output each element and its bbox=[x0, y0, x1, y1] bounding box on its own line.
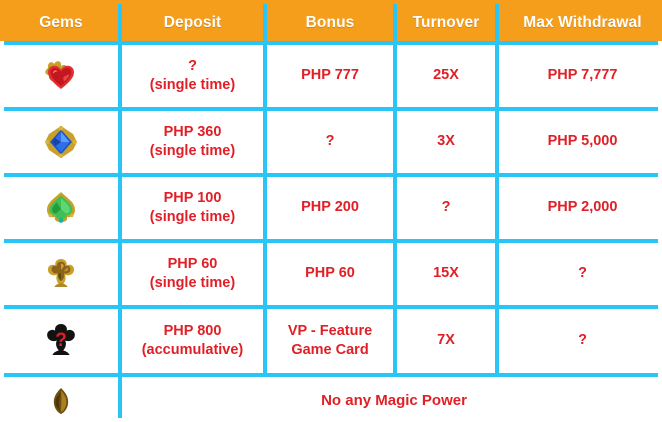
column-header-bonus: Bonus bbox=[267, 4, 393, 41]
gem-rewards-table-image: Gems Deposit Bonus Turnover Max Withdraw… bbox=[0, 0, 662, 422]
green-spade-gem-icon bbox=[41, 188, 81, 228]
max-withdrawal-cell: ? bbox=[499, 243, 662, 305]
gem-cell bbox=[4, 45, 118, 107]
max-withdrawal-cell: ? bbox=[499, 309, 662, 373]
table-header: Gems Deposit Bonus Turnover Max Withdraw… bbox=[4, 4, 662, 41]
bonus-value-2: Game Card bbox=[267, 341, 393, 360]
max-withdrawal-cell: PHP 7,777 bbox=[499, 45, 662, 107]
gold-club-gem-icon bbox=[41, 254, 81, 294]
gem-cell bbox=[4, 243, 118, 305]
deposit-value: PHP 800 bbox=[122, 322, 263, 341]
deposit-note: (single time) bbox=[122, 142, 263, 161]
bonus-cell: PHP 777 bbox=[267, 45, 393, 107]
table-row: ? PHP 800 (accumulative) VP - Feature Ga… bbox=[4, 309, 662, 373]
turnover-cell: 7X bbox=[397, 309, 495, 373]
gem-cell bbox=[4, 111, 118, 173]
max-withdrawal-cell: PHP 2,000 bbox=[499, 177, 662, 239]
mystery-question-mark: ? bbox=[55, 330, 67, 351]
blue-diamond-gem-icon bbox=[41, 122, 81, 162]
column-header-turnover: Turnover bbox=[397, 4, 495, 41]
turnover-cell: ? bbox=[397, 177, 495, 239]
deposit-cell: ? (single time) bbox=[122, 45, 263, 107]
deposit-note: (single time) bbox=[122, 208, 263, 227]
gold-flame-gem-icon bbox=[49, 386, 73, 416]
turnover-cell: 25X bbox=[397, 45, 495, 107]
top-edge-bleed bbox=[0, 0, 662, 4]
gem-cell bbox=[4, 177, 118, 239]
deposit-cell: PHP 360 (single time) bbox=[122, 111, 263, 173]
right-body-bleed bbox=[658, 41, 662, 422]
bonus-value: PHP 60 bbox=[267, 264, 393, 283]
deposit-value: PHP 60 bbox=[122, 255, 263, 274]
right-header-bleed bbox=[658, 0, 662, 41]
header-row: Gems Deposit Bonus Turnover Max Withdraw… bbox=[4, 4, 662, 41]
bonus-cell: ? bbox=[267, 111, 393, 173]
deposit-value: PHP 360 bbox=[122, 123, 263, 142]
column-header-max-withdrawal: Max Withdrawal bbox=[499, 4, 662, 41]
left-header-bleed bbox=[0, 0, 4, 41]
mystery-black-gem-icon: ? bbox=[40, 320, 82, 362]
left-body-bleed bbox=[0, 41, 4, 422]
table-body: ? (single time) PHP 777 25X PHP 7,777 bbox=[4, 45, 662, 422]
gem-cell bbox=[4, 377, 118, 422]
table-row: PHP 100 (single time) PHP 200 ? PHP 2,00… bbox=[4, 177, 662, 239]
bottom-edge-bleed bbox=[0, 418, 662, 422]
deposit-cell: PHP 800 (accumulative) bbox=[122, 309, 263, 373]
red-heart-gem-icon bbox=[41, 56, 81, 96]
turnover-cell: 15X bbox=[397, 243, 495, 305]
table-row: No any Magic Power bbox=[4, 377, 662, 422]
bonus-value: VP - Feature bbox=[267, 322, 393, 341]
deposit-note: (single time) bbox=[122, 274, 263, 293]
deposit-value: ? bbox=[122, 57, 263, 76]
deposit-value: PHP 100 bbox=[122, 189, 263, 208]
max-withdrawal-cell: PHP 5,000 bbox=[499, 111, 662, 173]
turnover-cell: 3X bbox=[397, 111, 495, 173]
bonus-cell: PHP 200 bbox=[267, 177, 393, 239]
bonus-value: PHP 777 bbox=[267, 66, 393, 85]
bonus-value: ? bbox=[267, 132, 393, 151]
bonus-cell: PHP 60 bbox=[267, 243, 393, 305]
deposit-note: (accumulative) bbox=[122, 341, 263, 360]
no-magic-power-cell: No any Magic Power bbox=[122, 377, 662, 422]
bonus-value: PHP 200 bbox=[267, 198, 393, 217]
table-row: ? (single time) PHP 777 25X PHP 7,777 bbox=[4, 45, 662, 107]
table-row: PHP 60 (single time) PHP 60 15X ? bbox=[4, 243, 662, 305]
column-header-gems: Gems bbox=[4, 4, 118, 41]
deposit-cell: PHP 100 (single time) bbox=[122, 177, 263, 239]
column-header-deposit: Deposit bbox=[122, 4, 263, 41]
gem-rewards-table: Gems Deposit Bonus Turnover Max Withdraw… bbox=[0, 0, 662, 422]
gem-cell: ? bbox=[4, 309, 118, 373]
deposit-note: (single time) bbox=[122, 76, 263, 95]
deposit-cell: PHP 60 (single time) bbox=[122, 243, 263, 305]
table-row: PHP 360 (single time) ? 3X PHP 5,000 bbox=[4, 111, 662, 173]
bonus-cell: VP - Feature Game Card bbox=[267, 309, 393, 373]
